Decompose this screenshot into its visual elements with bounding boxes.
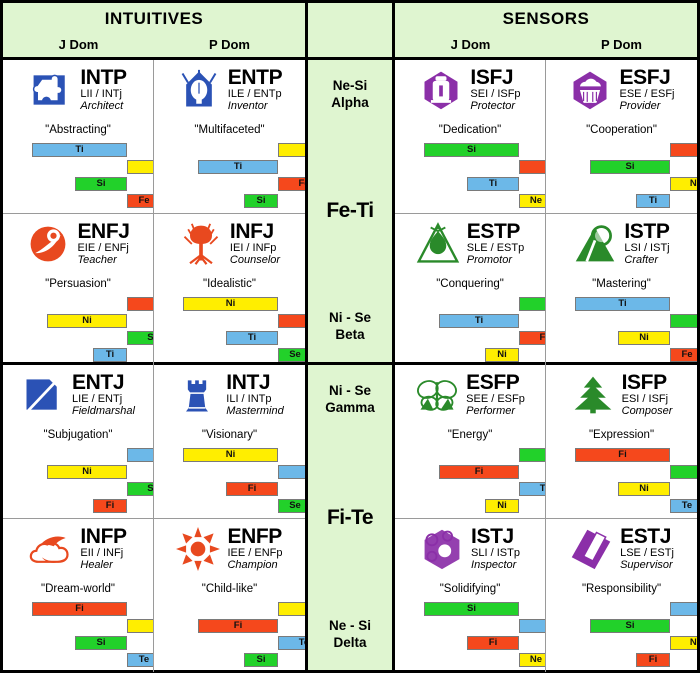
function-stack-bars: FeSiNeTi xyxy=(550,143,693,211)
cell-isfp[interactable]: ISFPESI / ISFjComposer"Expression"FiSeNi… xyxy=(546,365,697,518)
type-nickname: Inventor xyxy=(228,101,282,113)
function-bar-se: Se xyxy=(278,348,305,362)
type-nickname: Counselor xyxy=(230,255,280,267)
type-keyword-quote: "Multifaceted" xyxy=(158,124,301,140)
function-bar-ne: Ne xyxy=(519,653,546,667)
type-text-block: ISFPESI / ISFjComposer xyxy=(622,371,673,418)
function-bar-fi: Fi xyxy=(575,448,670,462)
function-bar-se: Se xyxy=(127,331,154,345)
cell-enfp[interactable]: ENFPIEE / ENFpChampion"Child-like"NeFiTe… xyxy=(154,519,305,672)
gears-icon xyxy=(420,526,464,572)
function-bar-te: Te xyxy=(278,465,305,479)
type-code: INFP xyxy=(80,526,126,548)
header-center-spacer xyxy=(308,3,392,60)
function-bar-fi: Fi xyxy=(636,653,670,667)
type-text-block: ESFJESE / ESFjProvider xyxy=(619,66,674,113)
function-bar-fe: Fe xyxy=(127,297,154,311)
type-keyword-quote: "Abstracting" xyxy=(7,124,149,140)
function-stack-bars: NeFiTeSi xyxy=(158,602,301,670)
type-code: ISFJ xyxy=(470,67,520,89)
header-intuitives-j-dom: J Dom xyxy=(3,31,154,57)
function-bar-si: Si xyxy=(590,160,670,174)
type-keyword-quote: "Solidifying" xyxy=(399,583,541,599)
type-text-block: INFJIEI / INFpCounselor xyxy=(230,220,280,267)
type-code: ENTJ xyxy=(72,372,135,394)
megaphone-sun-icon xyxy=(26,221,70,267)
function-bar-ni: Ni xyxy=(618,482,670,496)
type-code: ENTP xyxy=(228,67,282,89)
function-bar-se: Se xyxy=(127,482,154,496)
type-text-block: ENTJLIE / ENTjFieldmarshal xyxy=(72,371,135,418)
sensors-gamma-delta-band: ESFPSEE / ESFpPerformer"Energy"SeFiTeNi … xyxy=(395,365,697,670)
type-keyword-quote: "Energy" xyxy=(399,429,541,445)
type-header: ESTJLSE / ESTjSupervisor xyxy=(550,525,693,581)
function-bar-ni: Ni xyxy=(485,348,519,362)
function-stack-bars: NiFeTiSe xyxy=(158,297,301,365)
type-keyword-quote: "Visionary" xyxy=(158,429,301,445)
function-bar-se: Se xyxy=(670,465,697,479)
cupcake-icon xyxy=(568,67,612,113)
function-bar-fi: Fi xyxy=(93,499,127,513)
function-bar-fe: Fe xyxy=(519,331,546,345)
cell-intj[interactable]: INTJILI / INTpMastermind"Visionary"NiTeF… xyxy=(154,365,305,518)
cell-entp[interactable]: ENTPILE / ENTpInventor"Multifaceted"NeTi… xyxy=(154,60,305,213)
type-code: ENFJ xyxy=(77,221,129,243)
function-bar-ne: Ne xyxy=(670,177,697,191)
function-bar-ni: Ni xyxy=(618,331,670,345)
header-sensors-title: SENSORS xyxy=(395,3,697,31)
type-keyword-quote: "Responsibility" xyxy=(550,583,693,599)
function-stack-bars: TiNeSiFe xyxy=(7,143,149,211)
pine-tree-icon xyxy=(571,372,615,418)
lightbulb-crown-icon xyxy=(177,67,221,113)
function-bar-ti: Ti xyxy=(467,177,519,191)
quadra-bottom-half: Ni - Se Gamma Fi-Te Ne - Si Delta xyxy=(308,365,392,670)
type-text-block: ISFJSEI / ISFpProtector xyxy=(470,66,520,113)
quadra-center-column: Ne-Si Alpha Fe-Ti Ni - Se Beta Ni - Se G… xyxy=(308,60,392,670)
type-nickname: Protector xyxy=(470,101,520,113)
quadra-fi-te-axis: Fi-Te xyxy=(310,506,390,530)
type-code: ENFP xyxy=(227,526,282,548)
puzzle-piece-icon xyxy=(29,67,73,113)
type-keyword-quote: "Subjugation" xyxy=(7,429,149,445)
type-code: ESFP xyxy=(466,372,525,394)
sunburst-icon xyxy=(176,526,220,572)
cell-estj[interactable]: ESTJLSE / ESTjSupervisor"Responsibility"… xyxy=(546,519,697,672)
type-header: ENFPIEE / ENFpChampion xyxy=(158,525,301,581)
cell-infp[interactable]: INFPEII / INFjHealer"Dream-world"FiNeSiT… xyxy=(3,519,154,672)
function-stack-bars: SiTeFiNe xyxy=(399,602,541,670)
type-code: ESTJ xyxy=(620,526,674,548)
pencil-clipboard-icon xyxy=(569,526,613,572)
mbti-function-stack-chart: INTUITIVES J Dom P Dom SENSORS J Dom P D… xyxy=(0,0,700,673)
cell-esfp[interactable]: ESFPSEE / ESFpPerformer"Energy"SeFiTeNi xyxy=(395,365,546,518)
header-intuitives: INTUITIVES J Dom P Dom xyxy=(3,3,308,60)
cell-entj[interactable]: ENTJLIE / ENTjFieldmarshal"Subjugation"T… xyxy=(3,365,154,518)
sensors-column: ISFJSEI / ISFpProtector"Dedication"SiFeT… xyxy=(392,60,697,670)
cell-infj[interactable]: INFJIEI / INFpCounselor"Idealistic"NiFeT… xyxy=(154,214,305,367)
type-text-block: INTPLII / INTjArchitect xyxy=(80,66,126,113)
type-text-block: ESFPSEE / ESFpPerformer xyxy=(466,371,525,418)
type-header: INFJIEI / INFpCounselor xyxy=(158,220,301,276)
type-nickname: Teacher xyxy=(77,255,129,267)
quadra-beta-label: Ni - Se Beta xyxy=(310,310,390,344)
function-bar-ni: Ni xyxy=(183,297,278,311)
arrow-square-icon xyxy=(21,372,65,418)
function-bar-fe: Fe xyxy=(127,194,154,208)
function-bar-ti: Ti xyxy=(439,314,519,328)
type-header: ISFJSEI / ISFpProtector xyxy=(399,66,541,122)
function-bar-te: Te xyxy=(670,602,697,616)
header-sensors-j-dom: J Dom xyxy=(395,31,546,57)
type-nickname: Champion xyxy=(227,560,282,572)
cell-isfj[interactable]: ISFJSEI / ISFpProtector"Dedication"SiFeT… xyxy=(395,60,546,213)
type-header: ENTPILE / ENTpInventor xyxy=(158,66,301,122)
butterfly-icon xyxy=(415,372,459,418)
function-stack-bars: FiNeSiTe xyxy=(7,602,149,670)
function-bar-ne: Ne xyxy=(278,602,305,616)
function-bar-si: Si xyxy=(75,636,127,650)
type-text-block: INTJILI / INTpMastermind xyxy=(226,371,283,418)
type-text-block: INFPEII / INFjHealer xyxy=(80,525,126,572)
cell-estp[interactable]: ESTPSLE / ESTpPromotor"Conquering"SeTiFe… xyxy=(395,214,546,367)
type-nickname: Fieldmarshal xyxy=(72,406,135,418)
type-header: INTPLII / INTjArchitect xyxy=(7,66,149,122)
type-keyword-quote: "Child-like" xyxy=(158,583,301,599)
type-keyword-quote: "Idealistic" xyxy=(158,278,301,294)
function-bar-ti: Ti xyxy=(93,348,127,362)
function-stack-bars: TiSeNiFe xyxy=(550,297,693,365)
type-text-block: ESTJLSE / ESTjSupervisor xyxy=(620,525,674,572)
type-nickname: Healer xyxy=(80,560,126,572)
type-keyword-quote: "Dedication" xyxy=(399,124,541,140)
function-bar-se: Se xyxy=(278,499,305,513)
function-bar-ti: Ti xyxy=(32,143,127,157)
cell-istj[interactable]: ISTJSLI / ISTpInspector"Solidifying"SiTe… xyxy=(395,519,546,672)
type-code: ISFP xyxy=(622,372,673,394)
type-header: ISTJSLI / ISTpInspector xyxy=(399,525,541,581)
function-bar-te: Te xyxy=(278,636,305,650)
function-bar-ne: Ne xyxy=(670,636,697,650)
header-sensors: SENSORS J Dom P Dom xyxy=(392,3,697,60)
function-bar-fe: Fe xyxy=(670,348,697,362)
function-bar-te: Te xyxy=(127,448,154,462)
function-bar-se: Se xyxy=(670,314,697,328)
chart-header: INTUITIVES J Dom P Dom SENSORS J Dom P D… xyxy=(3,3,697,60)
type-keyword-quote: "Expression" xyxy=(550,429,693,445)
intuitives-gamma-delta-band: ENTJLIE / ENTjFieldmarshal"Subjugation"T… xyxy=(3,365,305,670)
dove-cloud-icon xyxy=(29,526,73,572)
type-nickname: Architect xyxy=(80,101,126,113)
chess-rook-icon xyxy=(175,372,219,418)
type-header: INFPEII / INFjHealer xyxy=(7,525,149,581)
type-code: ISTJ xyxy=(471,526,520,548)
function-bar-se: Se xyxy=(519,448,546,462)
type-text-block: ENFJEIE / ENFjTeacher xyxy=(77,220,129,267)
function-bar-ni: Ni xyxy=(485,499,519,513)
function-bar-ne: Ne xyxy=(278,143,305,157)
type-keyword-quote: "Dream-world" xyxy=(7,583,149,599)
function-bar-ne: Ne xyxy=(519,194,546,208)
type-nickname: Mastermind xyxy=(226,406,283,418)
type-header: ESTPSLE / ESTpPromotor xyxy=(399,220,541,276)
type-nickname: Composer xyxy=(622,406,673,418)
function-bar-ti: Ti xyxy=(226,331,278,345)
function-bar-fi: Fi xyxy=(226,482,278,496)
type-keyword-quote: "Conquering" xyxy=(399,278,541,294)
quadra-gamma-label: Ni - Se Gamma xyxy=(310,383,390,417)
function-stack-bars: FeNiSeTi xyxy=(7,297,149,365)
header-intuitives-title: INTUITIVES xyxy=(3,3,305,31)
type-header: ENTJLIE / ENTjFieldmarshal xyxy=(7,371,149,427)
type-text-block: ENTPILE / ENTpInventor xyxy=(228,66,282,113)
function-bar-ti: Ti xyxy=(636,194,670,208)
type-header: INTJILI / INTpMastermind xyxy=(158,371,301,427)
tree-roots-icon xyxy=(179,221,223,267)
type-nickname: Promotor xyxy=(467,255,524,267)
header-intuitives-p-dom: P Dom xyxy=(154,31,305,57)
function-bar-te: Te xyxy=(670,499,697,513)
function-bar-ni: Ni xyxy=(183,448,278,462)
lantern-icon xyxy=(419,67,463,113)
function-stack-bars: SiFeTiNe xyxy=(399,143,541,211)
function-bar-ne: Ne xyxy=(127,619,154,633)
function-bar-fi: Fi xyxy=(439,465,519,479)
function-bar-si: Si xyxy=(590,619,670,633)
quadra-top-half: Ne-Si Alpha Fe-Ti Ni - Se Beta xyxy=(308,60,392,365)
chart-body: INTPLII / INTjArchitect"Abstracting"TiNe… xyxy=(3,60,697,670)
function-bar-fi: Fi xyxy=(32,602,127,616)
function-bar-se: Se xyxy=(519,297,546,311)
function-bar-fe: Fe xyxy=(278,177,305,191)
cell-esfj[interactable]: ESFJESE / ESFjProvider"Cooperation"FeSiN… xyxy=(546,60,697,213)
type-nickname: Inspector xyxy=(471,560,520,572)
cell-enfj[interactable]: ENFJEIE / ENFjTeacher"Persuasion"FeNiSeT… xyxy=(3,214,154,367)
sensors-alpha-beta-band: ISFJSEI / ISFpProtector"Dedication"SiFeT… xyxy=(395,60,697,365)
header-sensors-p-dom: P Dom xyxy=(546,31,697,57)
type-nickname: Crafter xyxy=(624,255,669,267)
function-stack-bars: NeTiFeSi xyxy=(158,143,301,211)
function-stack-bars: TeNiSeFi xyxy=(7,448,149,516)
function-bar-fi: Fi xyxy=(198,619,278,633)
type-header: ESFPSEE / ESFpPerformer xyxy=(399,371,541,427)
type-text-block: ESTPSLE / ESTpPromotor xyxy=(467,220,524,267)
function-bar-ne: Ne xyxy=(127,160,154,174)
function-bar-si: Si xyxy=(244,653,278,667)
type-keyword-quote: "Persuasion" xyxy=(7,278,149,294)
function-bar-te: Te xyxy=(519,619,546,633)
type-text-block: ENFPIEE / ENFpChampion xyxy=(227,525,282,572)
quadra-alpha-label: Ne-Si Alpha xyxy=(310,78,390,112)
cell-intp[interactable]: INTPLII / INTjArchitect"Abstracting"TiNe… xyxy=(3,60,154,213)
function-bar-ni: Ni xyxy=(47,314,127,328)
type-header: ESFJESE / ESFjProvider xyxy=(550,66,693,122)
function-stack-bars: SeTiFeNi xyxy=(399,297,541,365)
type-code: INTP xyxy=(80,67,126,89)
type-keyword-quote: "Mastering" xyxy=(550,278,693,294)
function-stack-bars: FiSeNiTe xyxy=(550,448,693,516)
function-bar-si: Si xyxy=(424,602,519,616)
function-stack-bars: TeSiNeFi xyxy=(550,602,693,670)
quadra-fe-ti-axis: Fe-Ti xyxy=(310,199,390,223)
function-bar-fe: Fe xyxy=(278,314,305,328)
function-stack-bars: NiTeFiSe xyxy=(158,448,301,516)
intuitives-alpha-beta-band: INTPLII / INTjArchitect"Abstracting"TiNe… xyxy=(3,60,305,365)
function-bar-ni: Ni xyxy=(47,465,127,479)
type-header: ISTPLSI / ISTjCrafter xyxy=(550,220,693,276)
function-bar-si: Si xyxy=(244,194,278,208)
function-bar-fe: Fe xyxy=(670,143,697,157)
scales-shield-icon xyxy=(416,221,460,267)
type-nickname: Performer xyxy=(466,406,525,418)
type-text-block: ISTJSLI / ISTpInspector xyxy=(471,525,520,572)
magnifier-mountain-icon xyxy=(573,221,617,267)
function-bar-ti: Ti xyxy=(575,297,670,311)
function-bar-fi: Fi xyxy=(467,636,519,650)
cell-istp[interactable]: ISTPLSI / ISTjCrafter"Mastering"TiSeNiFe xyxy=(546,214,697,367)
type-text-block: ISTPLSI / ISTjCrafter xyxy=(624,220,669,267)
function-stack-bars: SeFiTeNi xyxy=(399,448,541,516)
type-code: ESTP xyxy=(467,221,524,243)
type-header: ISFPESI / ISFjComposer xyxy=(550,371,693,427)
type-header: ENFJEIE / ENFjTeacher xyxy=(7,220,149,276)
type-code: INTJ xyxy=(226,372,283,394)
type-keyword-quote: "Cooperation" xyxy=(550,124,693,140)
type-code: ESFJ xyxy=(619,67,674,89)
type-nickname: Supervisor xyxy=(620,560,674,572)
type-nickname: Provider xyxy=(619,101,674,113)
function-bar-si: Si xyxy=(424,143,519,157)
function-bar-si: Si xyxy=(75,177,127,191)
function-bar-te: Te xyxy=(127,653,154,667)
quadra-delta-label: Ne - Si Delta xyxy=(310,618,390,652)
function-bar-fe: Fe xyxy=(519,160,546,174)
type-code: INFJ xyxy=(230,221,280,243)
function-bar-ti: Ti xyxy=(198,160,278,174)
intuitives-column: INTPLII / INTjArchitect"Abstracting"TiNe… xyxy=(3,60,308,670)
type-code: ISTP xyxy=(624,221,669,243)
function-bar-te: Te xyxy=(519,482,546,496)
